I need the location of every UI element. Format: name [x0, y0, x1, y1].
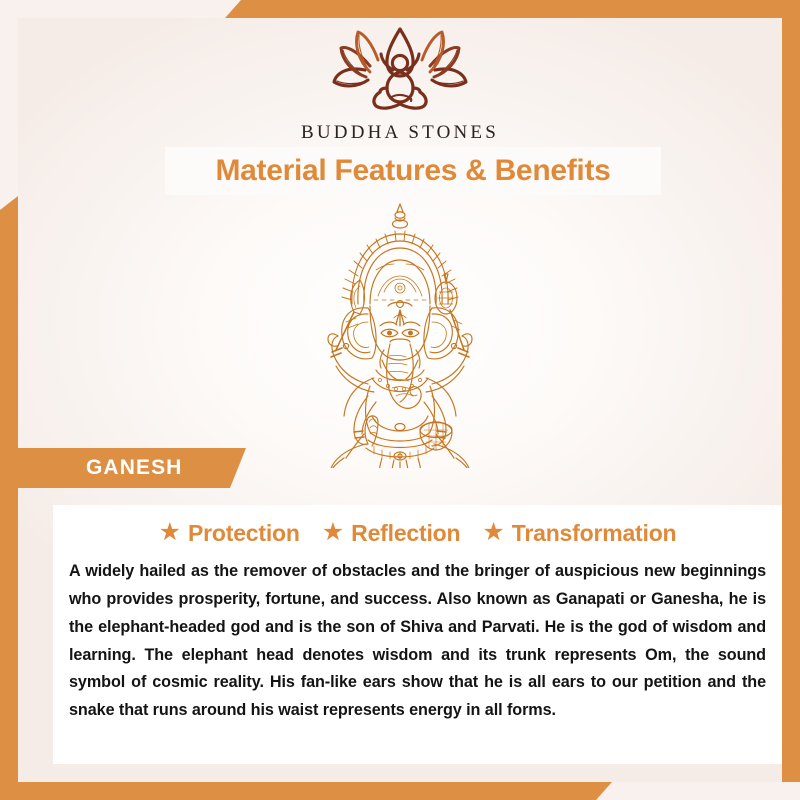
ganesh-ribbon: GANESH [18, 448, 246, 488]
title-band: Material Features & Benefits [165, 147, 661, 195]
star-icon: ★ [482, 520, 504, 545]
frame-bar-bottom [0, 782, 612, 800]
lotus-meditation-figure-icon [324, 26, 476, 118]
feature-item: ★ Protection [159, 520, 300, 547]
ribbon-label: GANESH [86, 456, 182, 480]
illustration-area [18, 200, 782, 462]
content-card: ★ Protection ★ Reflection ★ Transformati… [53, 505, 782, 764]
feature-item: ★ Reflection [322, 520, 461, 547]
description-text: A widely hailed as the remover of obstac… [65, 558, 770, 725]
frame-bar-left [0, 196, 18, 800]
feature-label: Transformation [512, 520, 677, 547]
feature-label: Protection [188, 520, 300, 547]
poster-root: BUDDHA STONES Material Features & Benefi… [0, 0, 800, 800]
frame-bar-top [225, 0, 800, 18]
feature-list: ★ Protection ★ Reflection ★ Transformati… [65, 520, 770, 547]
star-icon: ★ [159, 520, 181, 545]
frame-bar-right [782, 0, 800, 782]
page-title: Material Features & Benefits [215, 154, 610, 188]
ganesh-line-art-icon [284, 200, 516, 468]
feature-label: Reflection [351, 520, 460, 547]
star-icon: ★ [322, 520, 344, 545]
feature-item: ★ Transformation [482, 520, 676, 547]
poster-canvas: BUDDHA STONES Material Features & Benefi… [18, 18, 782, 782]
brand-logo: BUDDHA STONES [18, 26, 782, 144]
brand-name: BUDDHA STONES [301, 122, 499, 144]
